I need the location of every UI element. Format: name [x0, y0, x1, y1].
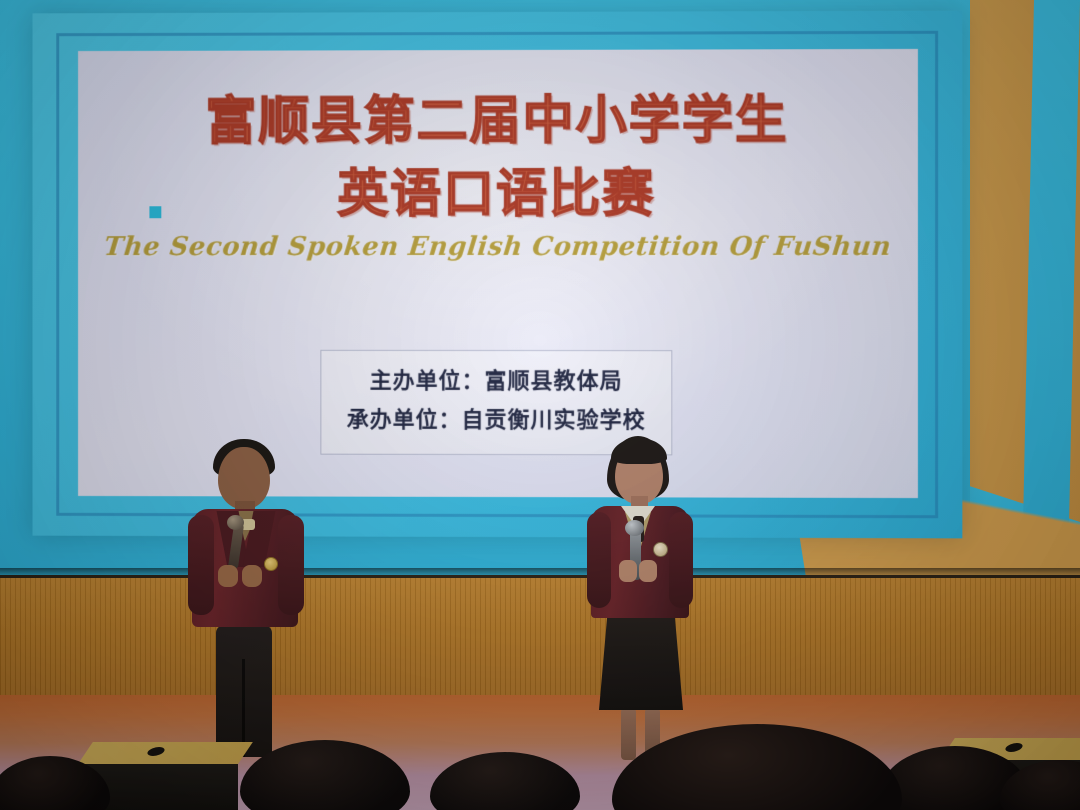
- boy-presenter: [180, 437, 310, 757]
- girl-hand-right: [639, 560, 657, 582]
- boy-arm-left: [188, 515, 214, 615]
- girl-hand-left: [619, 560, 637, 582]
- girl-arm-right: [669, 512, 693, 608]
- audience-head: [0, 756, 110, 810]
- stage-photograph: 富顺县第二届中小学学生 英语口语比赛 The Second Spoken Eng…: [0, 0, 1080, 810]
- audience-silhouettes: [0, 744, 1080, 810]
- boy-arm-right: [278, 515, 304, 615]
- slide-subtitle-english: The Second Spoken English Competition Of…: [78, 232, 918, 262]
- audience-head: [430, 752, 580, 810]
- projection-screen-surface: 富顺县第二届中小学学生 英语口语比赛 The Second Spoken Eng…: [78, 49, 918, 498]
- girl-arm-left: [587, 512, 611, 608]
- boy-school-badge-icon: [264, 557, 278, 571]
- wood-wall-panel: [0, 575, 1080, 695]
- girl-microphone-head-icon: [625, 520, 644, 536]
- slide-title-line-2: 英语口语比赛: [78, 167, 918, 223]
- boy-hand-right: [242, 565, 262, 587]
- slide-content: 富顺县第二届中小学学生 英语口语比赛 The Second Spoken Eng…: [78, 49, 918, 498]
- boy-head: [218, 447, 270, 509]
- girl-presenter: [575, 432, 705, 757]
- organizer-row: 主办单位：富顺县教体局: [321, 363, 671, 402]
- boy-trousers: [216, 625, 272, 757]
- boy-hand-left: [218, 565, 238, 587]
- projection-screen-frame: 富顺县第二届中小学学生 英语口语比赛 The Second Spoken Eng…: [33, 11, 963, 539]
- boy-microphone-head-icon: [227, 515, 244, 530]
- slide-title-line-1: 富顺县第二届中小学学生: [78, 93, 918, 150]
- girl-hair-fringe: [611, 438, 667, 464]
- audience-head: [240, 740, 410, 810]
- girl-school-badge-icon: [653, 542, 668, 557]
- girl-skirt: [599, 614, 683, 710]
